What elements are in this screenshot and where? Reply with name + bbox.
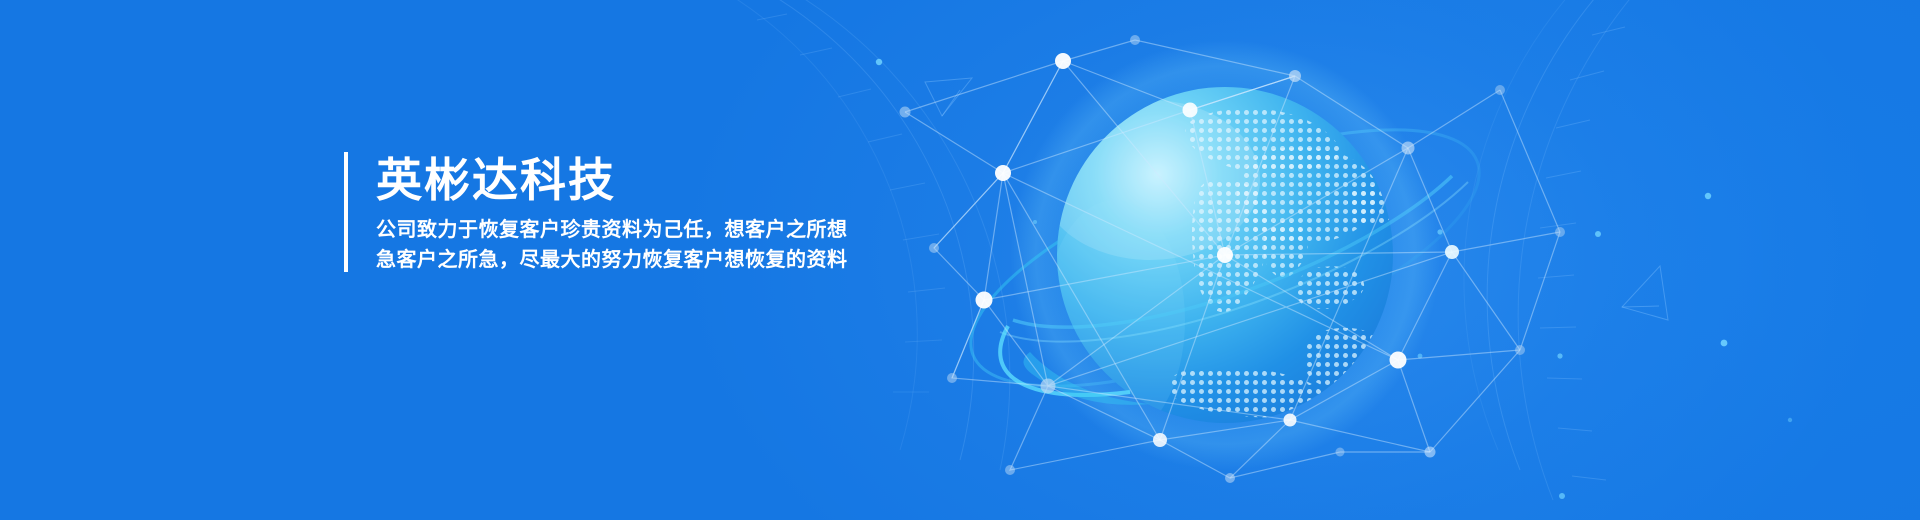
globe-sheen <box>1040 100 1260 440</box>
page-title: 英彬达科技 <box>376 152 848 208</box>
network-nodes <box>900 35 1566 483</box>
hero-banner: 英彬达科技 公司致力于恢复客户珍贵资料为己任，想客户之所想 急客户之所急，尽最大… <box>0 0 1920 520</box>
arc-grid-right <box>1464 0 1655 500</box>
network-globe-graphic <box>0 0 1920 520</box>
wireframe-triangle-right <box>1622 266 1668 320</box>
wireframe-triangle-left <box>925 78 972 116</box>
globe-continents <box>1168 108 1396 417</box>
globe-sphere <box>1057 87 1393 423</box>
orbit-ring-back <box>941 77 1510 439</box>
background-glow <box>0 0 1920 520</box>
hero-text-block: 英彬达科技 公司致力于恢复客户珍贵资料为己任，想客户之所想 急客户之所急，尽最大… <box>344 152 848 272</box>
orbit-ring-body <box>1023 352 1150 405</box>
globe-halo <box>1010 40 1440 470</box>
network-mesh <box>905 40 1560 478</box>
orbit-ring-front <box>1000 176 1468 342</box>
subtitle-line-2: 急客户之所急，尽最大的努力恢复客户想恢复的资料 <box>376 244 848 274</box>
orbit-ring-highlight <box>1000 326 1130 395</box>
subtitle-group: 公司致力于恢复客户珍贵资料为己任，想客户之所想 急客户之所急，尽最大的努力恢复客… <box>376 214 848 274</box>
subtitle-line-1: 公司致力于恢复客户珍贵资料为己任，想客户之所想 <box>376 214 848 244</box>
background-decoration <box>0 0 1920 520</box>
scattered-dots <box>876 59 1792 499</box>
